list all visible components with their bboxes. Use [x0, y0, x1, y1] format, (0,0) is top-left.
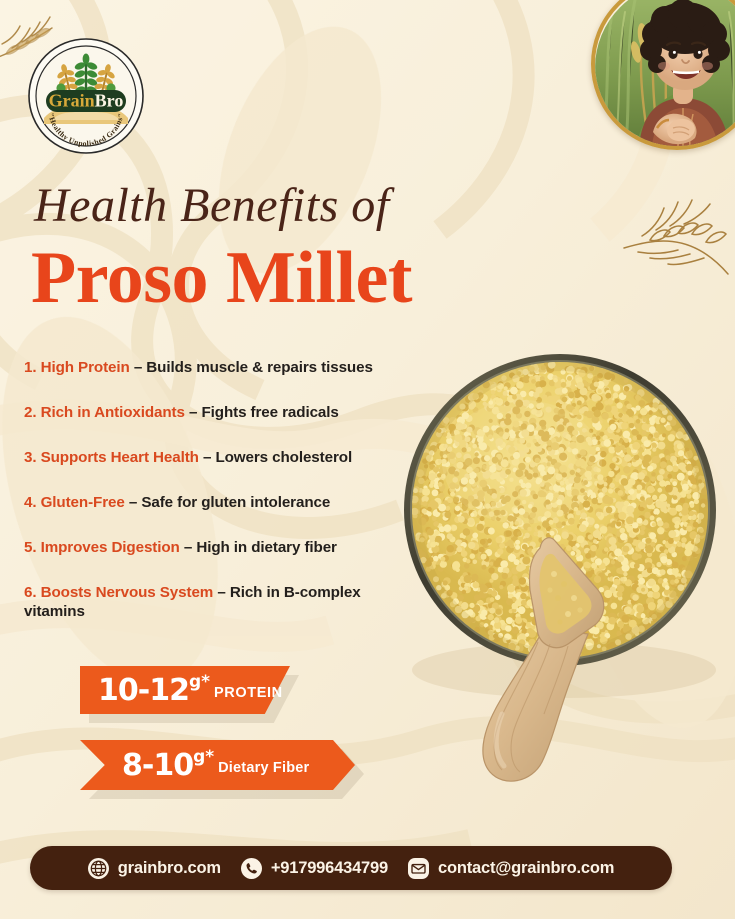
benefit-description: Safe for gluten intolerance — [141, 494, 330, 511]
footer-email[interactable]: contact@grainbro.com — [408, 858, 614, 879]
page-title: Proso Millet — [31, 240, 412, 318]
stat-banner-fiber: 8-10g* Dietary Fiber — [80, 740, 355, 790]
benefit-term: Boosts Nervous System — [41, 584, 214, 601]
footer-phone[interactable]: +917996434799 — [241, 858, 388, 879]
contact-footer: grainbro.com +917996434799 contact@grain… — [30, 846, 672, 890]
wheat-sprig-icon — [620, 196, 732, 292]
benefit-dash: – — [134, 359, 142, 376]
footer-website[interactable]: grainbro.com — [88, 858, 221, 879]
stat-unit: g* — [193, 747, 214, 767]
benefit-number: 2. — [24, 404, 36, 421]
email-text: contact@grainbro.com — [438, 859, 614, 878]
benefit-dash: – — [189, 404, 197, 421]
benefit-term: Supports Heart Health — [41, 449, 199, 466]
logo-name-part1: Grain — [49, 91, 95, 111]
website-text: grainbro.com — [118, 859, 221, 878]
benefit-description: Fights free radicals — [201, 404, 338, 421]
benefit-term: Rich in Antioxidants — [41, 404, 185, 421]
stat-unit: g* — [189, 672, 210, 692]
brand-logo[interactable]: GrainBro "Healthy Unpolished Grains" — [28, 38, 144, 154]
benefit-number: 3. — [24, 449, 36, 466]
benefit-number: 5. — [24, 539, 36, 556]
globe-icon — [88, 858, 109, 879]
list-item: 3. Supports Heart Health – Lowers choles… — [24, 448, 416, 467]
phone-text: +917996434799 — [271, 859, 388, 878]
benefit-description: Builds muscle & repairs tissues — [146, 359, 373, 376]
list-item: 5. Improves Digestion – High in dietary … — [24, 538, 416, 557]
benefit-dash: – — [129, 494, 137, 511]
benefit-term: High Protein — [41, 359, 130, 376]
page-eyebrow: Health Benefits of — [34, 182, 390, 230]
benefit-description: High in dietary fiber — [196, 539, 337, 556]
benefit-dash: – — [184, 539, 192, 556]
benefit-description: Lowers cholesterol — [215, 449, 352, 466]
benefit-number: 1. — [24, 359, 36, 376]
stat-value: 8-10 — [122, 748, 193, 783]
benefits-list: 1. High Protein – Builds muscle & repair… — [24, 358, 416, 621]
stat-banner-protein: 10-12g* PROTEIN — [80, 666, 290, 714]
list-item: 6. Boosts Nervous System – Rich in B-com… — [24, 583, 416, 621]
logo-name-part2: Bro — [95, 91, 124, 111]
millet-bowl-image — [392, 352, 735, 822]
list-item: 4. Gluten-Free – Safe for gluten intoler… — [24, 493, 416, 512]
benefit-dash: – — [217, 584, 225, 601]
benefit-number: 4. — [24, 494, 36, 511]
list-item: 1. High Protein – Builds muscle & repair… — [24, 358, 416, 377]
phone-icon — [241, 858, 262, 879]
benefit-term: Gluten-Free — [41, 494, 125, 511]
svg-text:GrainBro: GrainBro — [49, 91, 124, 111]
stat-label: Dietary Fiber — [218, 760, 309, 776]
poster-canvas: GrainBro "Healthy Unpolished Grains" — [0, 0, 735, 919]
list-item: 2. Rich in Antioxidants – Fights free ra… — [24, 403, 416, 422]
benefit-dash: – — [203, 449, 211, 466]
benefit-number: 6. — [24, 584, 36, 601]
envelope-icon — [408, 858, 429, 879]
benefit-term: Improves Digestion — [41, 539, 180, 556]
stat-value: 10-12 — [98, 673, 189, 708]
stat-label: PROTEIN — [214, 685, 283, 701]
